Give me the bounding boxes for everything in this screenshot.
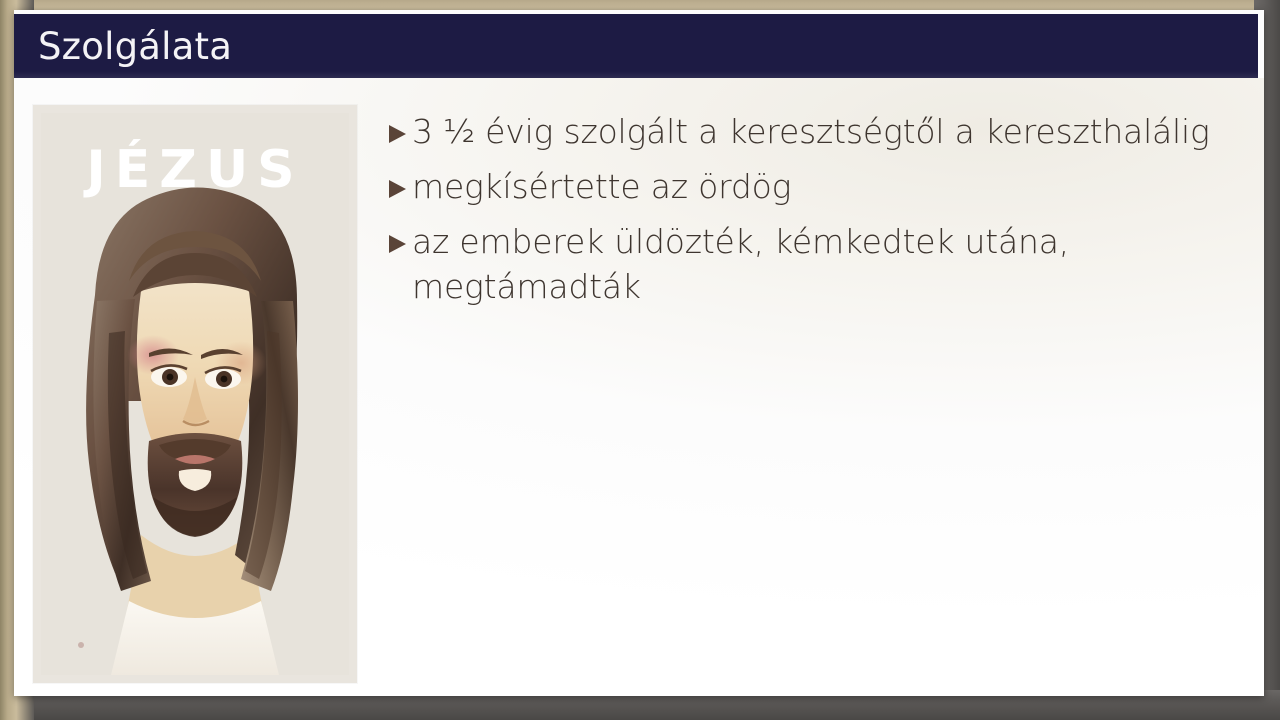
- bullet-text: megkísértette az ördög: [412, 165, 1248, 210]
- bullet-text: 3 ½ évig szolgált a keresztségtől a kere…: [412, 110, 1248, 155]
- portrait-illustration: JÉZUS: [33, 105, 357, 683]
- title-bar-highlight: [14, 71, 1258, 78]
- bullet-item-1: 3 ½ évig szolgált a keresztségtől a kere…: [386, 110, 1248, 155]
- jesus-portrait-image: JÉZUS: [33, 105, 357, 683]
- triangle-bullet-icon: [386, 110, 412, 145]
- page-title: Szolgálata: [38, 28, 232, 65]
- presentation-frame: Szolgálata: [0, 0, 1280, 720]
- bullet-list: 3 ½ évig szolgált a keresztségtől a kere…: [386, 110, 1248, 320]
- slide-content-area: JÉZUS: [14, 78, 1264, 696]
- bullet-item-2: megkísértette az ördög: [386, 165, 1248, 210]
- bullet-text: az emberek üldözték, kémkedtek utána, me…: [412, 220, 1248, 310]
- bullet-item-3: az emberek üldözték, kémkedtek utána, me…: [386, 220, 1248, 310]
- triangle-bullet-icon: [386, 220, 412, 255]
- slide-title-bar: Szolgálata: [14, 14, 1258, 78]
- slide-canvas: Szolgálata: [14, 10, 1264, 696]
- triangle-bullet-icon: [386, 165, 412, 200]
